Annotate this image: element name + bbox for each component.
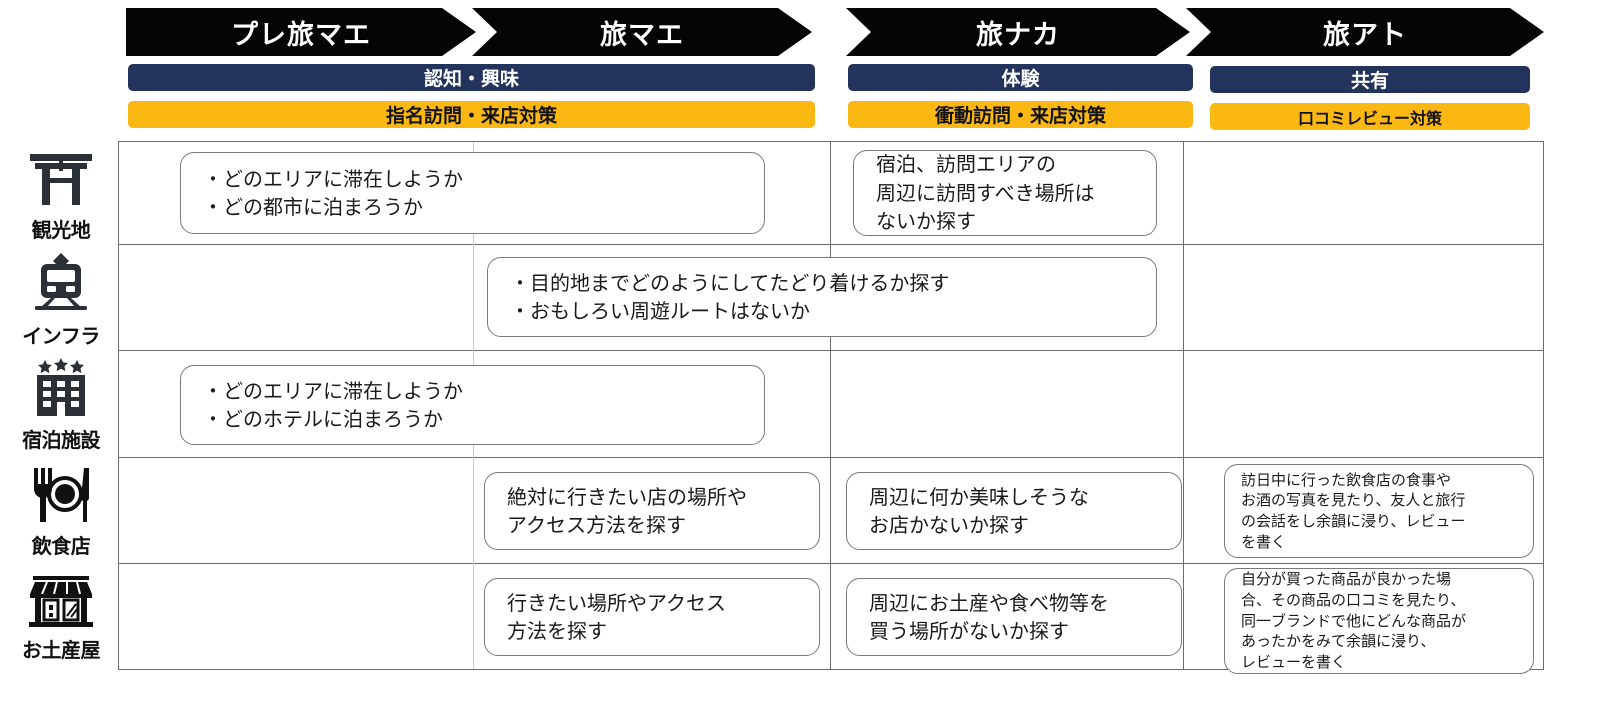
- stage-band-share: 共有: [1210, 66, 1530, 93]
- grid-col-divider-2: [830, 142, 831, 669]
- card-accommodation-pre-trip[interactable]: ・どのエリアに滞在しようか ・どのホテルに泊まろうか: [180, 365, 765, 445]
- card-infra-pre-trip[interactable]: ・目的地までどのようにしてたどり着けるか探す ・おもしろい周遊ルートはないか: [487, 257, 1157, 337]
- row-label-text-infra: インフラ: [22, 320, 99, 349]
- row-label-text-souvenir: お土産屋: [22, 634, 100, 663]
- stage-band-awareness: 認知・興味: [128, 64, 815, 91]
- phase-arrow-label-3: 旅アト: [1323, 13, 1407, 52]
- row-label-text-sightseeing: 観光地: [32, 214, 91, 243]
- measure-band-label-2: 衝動訪問・来店対策: [935, 101, 1106, 128]
- stage-band-label-2: 体験: [1001, 64, 1039, 91]
- card-souvenir-post-trip[interactable]: 自分が買った商品が良かった場 合、その商品の口コミを見たり、 同一ブランドで他に…: [1224, 568, 1534, 674]
- card-text: 宿泊、訪問エリアの 周辺に訪問すべき場所は ないか探す: [876, 150, 1095, 235]
- grid-row-divider-3: [119, 457, 1543, 458]
- card-sightseeing-pre-trip[interactable]: ・どのエリアに滞在しようか ・どの都市に泊まろうか: [180, 152, 765, 234]
- stage-band-experience: 体験: [848, 64, 1193, 91]
- row-label-souvenir: お土産屋: [6, 566, 116, 663]
- card-restaurant-during-trip[interactable]: 周辺に何か美味しそうな お店かないか探す: [846, 472, 1182, 550]
- card-text: 周辺にお土産や食べ物等を 買う場所がないか探す: [869, 589, 1109, 646]
- row-label-text-accommodation: 宿泊施設: [22, 424, 100, 453]
- grid-row-divider-4: [119, 563, 1543, 564]
- card-text: 絶対に行きたい店の場所や アクセス方法を探す: [507, 483, 747, 540]
- row-label-accommodation: 宿泊施設: [6, 354, 116, 453]
- phase-arrow-label-0: プレ旅マエ: [231, 13, 371, 52]
- card-text: ・どのエリアに滞在しようか ・どのホテルに泊まろうか: [203, 377, 463, 434]
- card-text: 周辺に何か美味しそうな お店かないか探す: [869, 483, 1089, 540]
- grid-col-divider-3: [1183, 142, 1184, 669]
- card-souvenir-pre-trip[interactable]: 行きたい場所やアクセス 方法を探す: [484, 578, 820, 656]
- card-text: 訪日中に行った飲食店の食事や お酒の写真を見たり、友人と旅行 の会話をし余韻に浸…: [1241, 470, 1465, 553]
- card-text: 自分が買った商品が良かった場 合、その商品の口コミを見たり、 同一ブランドで他に…: [1241, 569, 1466, 672]
- hotel-building-icon: [29, 358, 93, 422]
- grid-row-divider-1: [119, 244, 1543, 245]
- fork-plate-knife-icon: [29, 466, 93, 528]
- card-text: 行きたい場所やアクセス 方法を探す: [507, 589, 726, 646]
- souvenir-shop-icon: [27, 570, 95, 632]
- journey-map-canvas: プレ旅マエ 旅マエ 旅ナカ 旅アト 認知・興味 体験 共有 指名訪問・来店対策 …: [0, 0, 1600, 704]
- measure-band-designated-visit: 指名訪問・来店対策: [128, 101, 815, 128]
- grid-row-divider-2: [119, 350, 1543, 351]
- row-label-infra: インフラ: [6, 248, 116, 349]
- measure-band-impulse-visit: 衝動訪問・来店対策: [848, 101, 1193, 128]
- train-icon: [29, 252, 93, 318]
- measure-band-label-3: 口コミレビュー対策: [1298, 105, 1442, 129]
- card-text: ・どのエリアに滞在しようか ・どの都市に泊まろうか: [203, 165, 463, 222]
- phase-arrow-0: プレ旅マエ: [126, 8, 476, 56]
- measure-band-label-0: 指名訪問・来店対策: [386, 101, 557, 128]
- card-restaurant-post-trip[interactable]: 訪日中に行った飲食店の食事や お酒の写真を見たり、友人と旅行 の会話をし余韻に浸…: [1224, 464, 1534, 558]
- card-text: ・目的地までどのようにしてたどり着けるか探す ・おもしろい周遊ルートはないか: [510, 269, 949, 326]
- phase-arrow-2: 旅ナカ: [846, 8, 1190, 56]
- row-label-sightseeing: 観光地: [6, 144, 116, 243]
- phase-arrow-3: 旅アト: [1186, 8, 1544, 56]
- stage-band-label-0: 認知・興味: [424, 64, 519, 91]
- measure-band-review: 口コミレビュー対策: [1210, 103, 1530, 130]
- phase-arrow-1: 旅マエ: [472, 8, 812, 56]
- phase-arrow-label-2: 旅ナカ: [976, 13, 1060, 52]
- card-souvenir-during-trip[interactable]: 周辺にお土産や食べ物等を 買う場所がないか探す: [846, 578, 1182, 656]
- card-restaurant-pre-trip[interactable]: 絶対に行きたい店の場所や アクセス方法を探す: [484, 472, 820, 550]
- row-label-text-restaurant: 飲食店: [32, 530, 91, 559]
- stage-band-label-3: 共有: [1351, 66, 1389, 93]
- card-sightseeing-during-trip[interactable]: 宿泊、訪問エリアの 周辺に訪問すべき場所は ないか探す: [853, 150, 1157, 236]
- row-label-restaurant: 飲食店: [6, 462, 116, 559]
- torii-gate-icon: [26, 148, 96, 212]
- phase-arrow-label-1: 旅マエ: [600, 13, 684, 52]
